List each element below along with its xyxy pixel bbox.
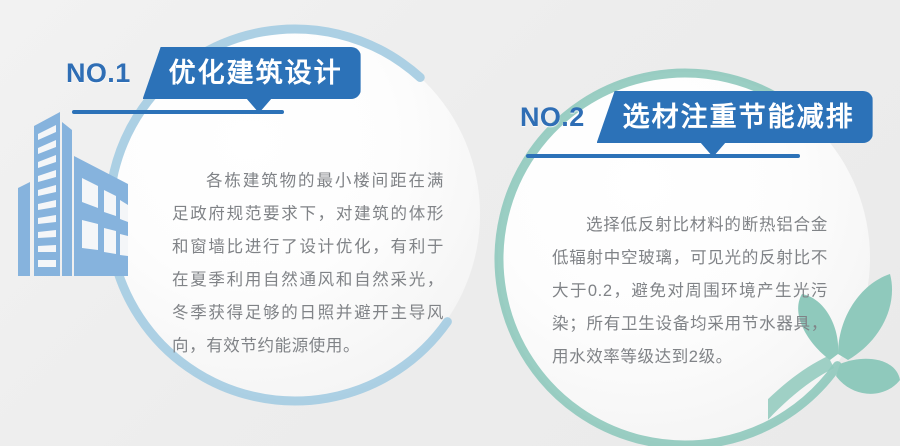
section-1-header: NO.1 优化建筑设计 [66, 46, 361, 100]
section-2-number-label: NO.2 [520, 104, 597, 131]
infographic-canvas: NO.1 优化建筑设计 各栋建筑物的最小楼间距在满足政府规范要求下，对建筑的体形… [0, 0, 900, 446]
section-1-number-label: NO.1 [66, 60, 143, 87]
section-2: NO.2 选材注重节能减排 选择低反射比材料的断热铝合金低辐射中空玻璃，可见光的… [390, 44, 900, 446]
section-2-header: NO.2 选材注重节能减排 [520, 90, 873, 144]
section-2-banner: 选材注重节能减排 [597, 91, 873, 143]
section-1-banner-title: 优化建筑设计 [169, 60, 343, 87]
section-2-banner-title: 选材注重节能减排 [623, 104, 855, 131]
section-1-underline [72, 110, 284, 114]
section-2-body-text: 选择低反射比材料的断热铝合金低辐射中空玻璃，可见光的反射比不大于0.2，避免对周… [552, 209, 828, 374]
section-2-underline [526, 154, 800, 158]
section-1-banner: 优化建筑设计 [143, 47, 361, 99]
